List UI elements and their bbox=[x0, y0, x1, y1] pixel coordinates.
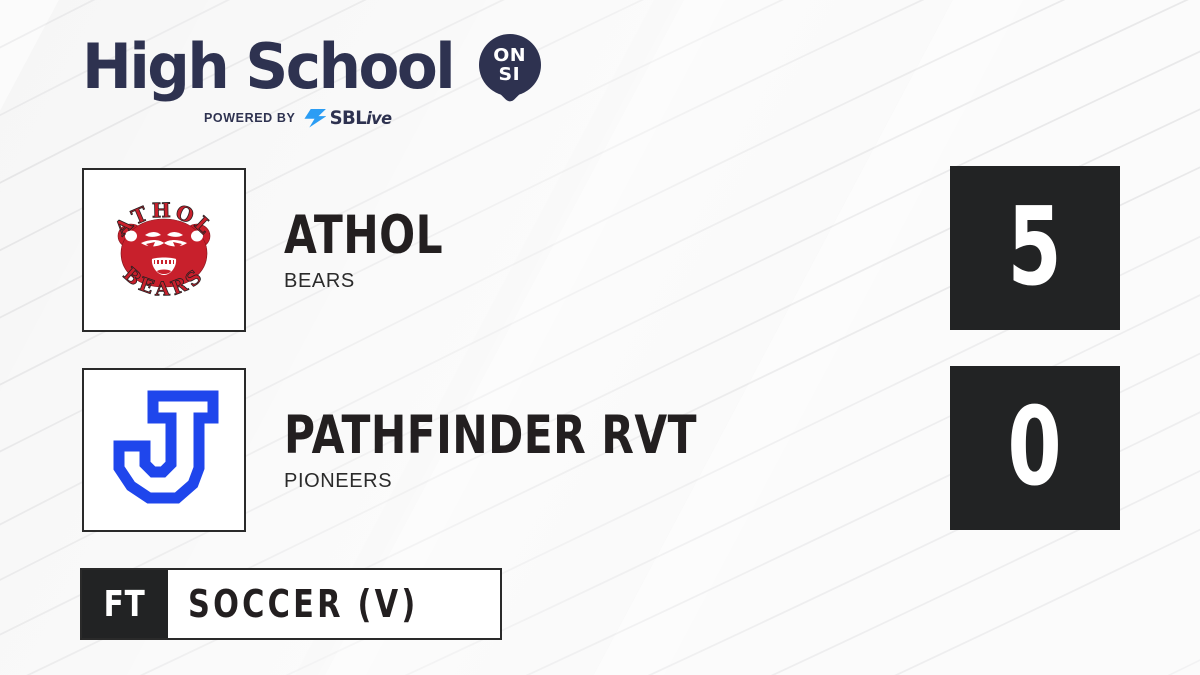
team-logo-box-away bbox=[82, 368, 246, 532]
pin-label-line1: ON bbox=[493, 47, 526, 65]
score-value-home: 5 bbox=[1008, 194, 1062, 302]
brand-title: High School bbox=[82, 36, 453, 98]
athol-bears-crest-icon: ATHOL BEARS bbox=[101, 187, 227, 313]
team-row-home: ATHOL BEARS ATHOL BEARS bbox=[82, 166, 483, 334]
status-bar: FT SOCCER (V) bbox=[80, 568, 502, 640]
score-box-away: 0 bbox=[950, 366, 1120, 530]
score-box-home: 5 bbox=[950, 166, 1120, 330]
scoreboard-graphic: High School ON SI POWERED BY SBLive bbox=[0, 0, 1200, 675]
team-names-home: ATHOL BEARS bbox=[284, 209, 483, 292]
team-mascot-home: BEARS bbox=[284, 270, 483, 292]
sblive-logo: SBLive bbox=[304, 107, 393, 129]
on-si-pin-icon: ON SI bbox=[479, 34, 512, 112]
status-sport-label: SOCCER (V) bbox=[188, 582, 418, 626]
status-sport-section: SOCCER (V) bbox=[168, 570, 500, 638]
pin-label: ON SI bbox=[479, 34, 541, 96]
sblive-wordmark: SBLive bbox=[330, 107, 392, 129]
pin-label-line2: SI bbox=[499, 66, 521, 84]
lightning-bolt-icon bbox=[304, 109, 326, 128]
powered-by-label: POWERED BY bbox=[204, 111, 295, 125]
team-name-away: PATHFINDER RVT bbox=[284, 409, 697, 463]
team-logo-box-home: ATHOL BEARS bbox=[82, 168, 246, 332]
powered-by-lockup: POWERED BY SBLive bbox=[204, 108, 394, 128]
status-period-label: FT bbox=[104, 584, 146, 625]
team-mascot-away: PIONEERS bbox=[284, 470, 800, 492]
team-row-away: PATHFINDER RVT PIONEERS bbox=[82, 366, 800, 534]
team-names-away: PATHFINDER RVT PIONEERS bbox=[284, 409, 800, 492]
score-value-away: 0 bbox=[1008, 394, 1062, 502]
pathfinder-j-icon bbox=[109, 390, 219, 510]
status-period-badge: FT bbox=[82, 570, 168, 638]
team-name-home: ATHOL bbox=[284, 209, 443, 263]
sblive-word-main: SBL bbox=[330, 107, 367, 129]
sblive-word-italic: ive bbox=[367, 109, 392, 129]
